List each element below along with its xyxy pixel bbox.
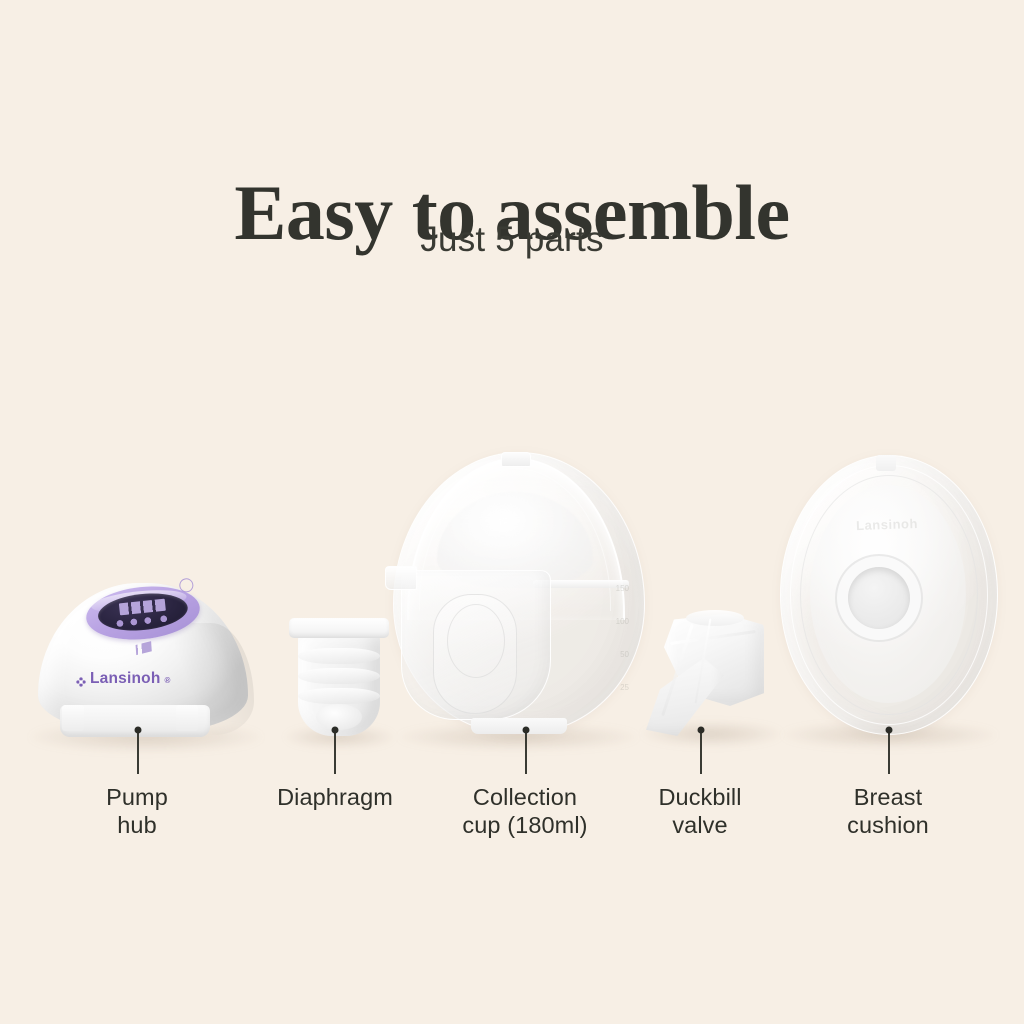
diaphragm-disc [316, 704, 362, 730]
pump-hub-tab-right [176, 705, 198, 731]
pump-hub-display-digits [119, 599, 166, 616]
leader-line-breast-cushion [888, 730, 890, 774]
part-duckbill-valve[interactable] [646, 614, 772, 740]
measure-mark: 150 [616, 584, 629, 593]
label-duckbill-valve: Duckbill valve [620, 783, 780, 839]
collection-cup-neck-inner [447, 604, 505, 678]
leader-line-collection-cup [525, 730, 527, 774]
label-diaphragm: Diaphragm [245, 783, 425, 811]
power-button-icon[interactable] [178, 577, 195, 594]
diaphragm-body [298, 634, 380, 736]
leader-line-diaphragm [334, 730, 336, 774]
collection-cup-hinge [501, 452, 531, 467]
label-breast-cushion: Breast cushion [808, 783, 968, 839]
collection-cup-foot [471, 718, 567, 734]
breast-cushion-center-hole [848, 567, 910, 629]
measure-mark: 50 [620, 650, 629, 659]
part-diaphragm[interactable] [289, 618, 389, 743]
registered-mark: ® [165, 676, 171, 685]
label-collection-cup: Collection cup (180ml) [425, 783, 625, 839]
leader-line-pump-hub [137, 730, 139, 774]
part-breast-cushion[interactable]: Lansinoh [780, 455, 996, 740]
breast-cushion-notch [876, 455, 896, 471]
measure-mark: 100 [616, 617, 629, 626]
infographic-canvas: Easy to assemble Just 5 parts [0, 0, 1024, 1024]
leader-line-duckbill-valve [700, 730, 702, 774]
pump-hub-control-buttons[interactable] [116, 614, 173, 628]
diaphragm-fold-2 [298, 668, 380, 684]
label-pump-hub: Pump hub [62, 783, 212, 839]
brand-name-text: Lansinoh [90, 670, 161, 688]
part-pump-hub[interactable]: Lansinoh ® [28, 575, 258, 745]
diaphragm-rim [289, 618, 389, 638]
part-collection-cup[interactable]: 150 100 50 25 [393, 452, 643, 742]
pump-hub-brand-logo: Lansinoh ® [76, 670, 171, 688]
pump-hub-tab-left [62, 705, 84, 731]
diaphragm-fold-3 [298, 688, 380, 704]
flower-icon [76, 674, 86, 684]
parts-diagram: Lansinoh ® Pump hub Diaphragm [0, 0, 1024, 1024]
collection-cup-funnel-lip [385, 566, 417, 590]
duckbill-valve-cap [686, 610, 744, 626]
measure-mark: 25 [620, 683, 629, 692]
collection-cup-measurement-marks: 150 100 50 25 [583, 584, 629, 692]
diaphragm-fold-1 [298, 648, 380, 664]
